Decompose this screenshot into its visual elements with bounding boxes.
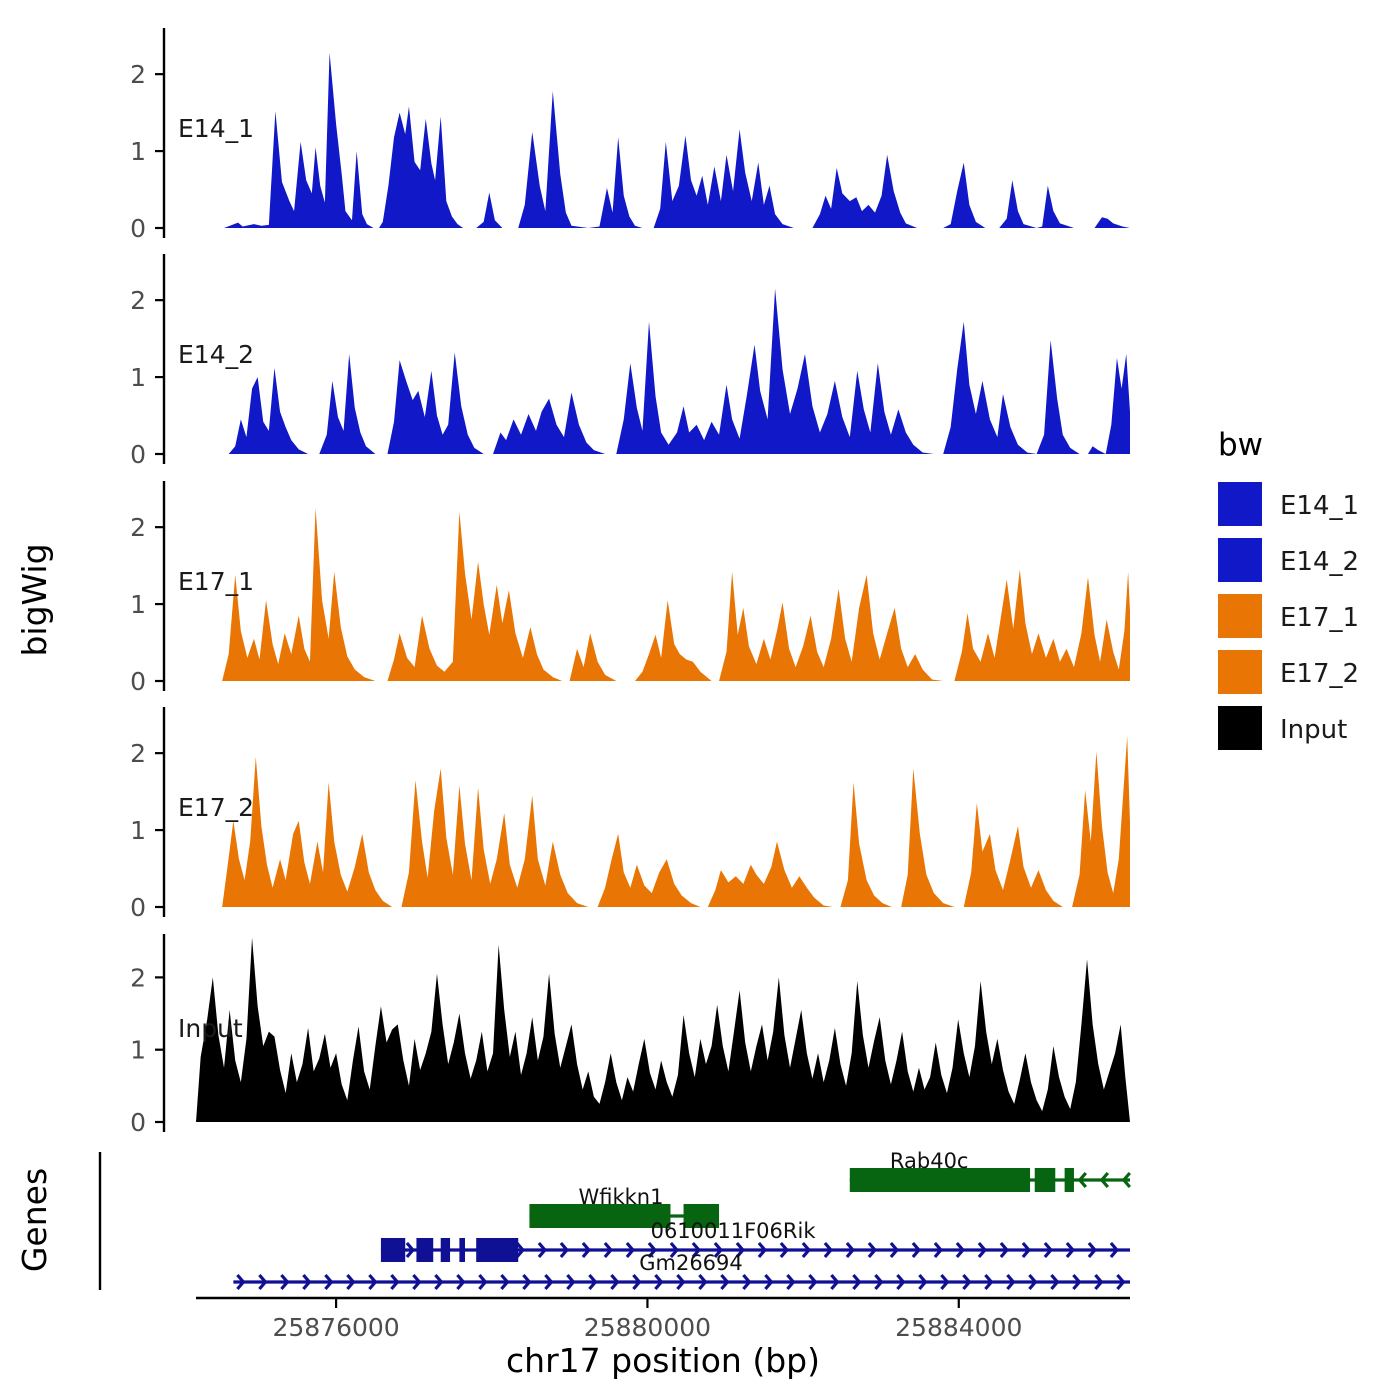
panel-label-E14_1: E14_1: [178, 114, 254, 143]
gene-exon-block: [459, 1238, 465, 1262]
legend-label-E14_2: E14_2: [1280, 547, 1359, 577]
y-tick-label-Input-1: 1: [130, 1036, 146, 1065]
panel-label-E14_2: E14_2: [178, 340, 254, 369]
x-tick-label-25876000: 25876000: [272, 1313, 399, 1342]
y-tick-label-E14_2-2: 2: [130, 286, 146, 315]
x-tick-label-25880000: 25880000: [584, 1313, 711, 1342]
y-tick-label-E14_2-1: 1: [130, 363, 146, 392]
y-tick-label-E17_2-1: 1: [130, 816, 146, 845]
y-tick-label-E14_2-0: 0: [130, 440, 146, 469]
y-tick-label-Input-2: 2: [130, 963, 146, 992]
legend-swatch-Input: [1218, 706, 1262, 750]
gene-exon-block: [416, 1238, 433, 1262]
y-axis-title: bigWig: [15, 543, 54, 656]
legend-swatch-E17_2: [1218, 650, 1262, 694]
gene-exon-block: [381, 1238, 405, 1262]
legend-label-E14_1: E14_1: [1280, 491, 1359, 521]
gene-exon-block: [1065, 1168, 1074, 1192]
panel-label-E17_1: E17_1: [178, 567, 254, 596]
legend-swatch-E17_1: [1218, 594, 1262, 638]
y-tick-label-E17_2-0: 0: [130, 893, 146, 922]
y-tick-label-E14_1-2: 2: [130, 60, 146, 89]
panel-label-E17_2: E17_2: [178, 793, 254, 822]
gene-label-Rab40c: Rab40c: [890, 1149, 969, 1173]
gene-exon-block: [476, 1238, 518, 1262]
y-tick-label-E17_2-2: 2: [130, 739, 146, 768]
legend-title: bw: [1218, 427, 1263, 463]
x-axis-title: chr17 position (bp): [506, 1341, 820, 1380]
genes-axis-title: Genes: [15, 1168, 54, 1272]
panel-label-Input: Input: [178, 1014, 243, 1043]
y-tick-label-E14_1-1: 1: [130, 137, 146, 166]
legend-swatch-E14_2: [1218, 538, 1262, 582]
y-tick-label-Input-0: 0: [130, 1108, 146, 1137]
gene-exon-block: [1035, 1168, 1056, 1192]
y-tick-label-E17_1-0: 0: [130, 667, 146, 696]
legend-label-Input: Input: [1280, 715, 1347, 745]
y-tick-label-E17_1-2: 2: [130, 513, 146, 542]
legend-swatch-E14_1: [1218, 482, 1262, 526]
y-tick-label-E17_1-1: 1: [130, 590, 146, 619]
gene-label-Wfikkn1: Wfikkn1: [578, 1185, 663, 1209]
x-tick-label-25884000: 25884000: [895, 1313, 1022, 1342]
legend-label-E17_2: E17_2: [1280, 659, 1359, 689]
gene-label-Gm26694: Gm26694: [639, 1251, 743, 1275]
y-tick-label-E14_1-0: 0: [130, 214, 146, 243]
legend-label-E17_1: E17_1: [1280, 603, 1359, 633]
gene-label-0610011F06Rik: 0610011F06Rik: [651, 1219, 817, 1243]
gene-exon-block: [441, 1238, 450, 1262]
genome-browser-figure: bigWig Genes chr17 position (bp) 012E14_…: [0, 0, 1400, 1400]
